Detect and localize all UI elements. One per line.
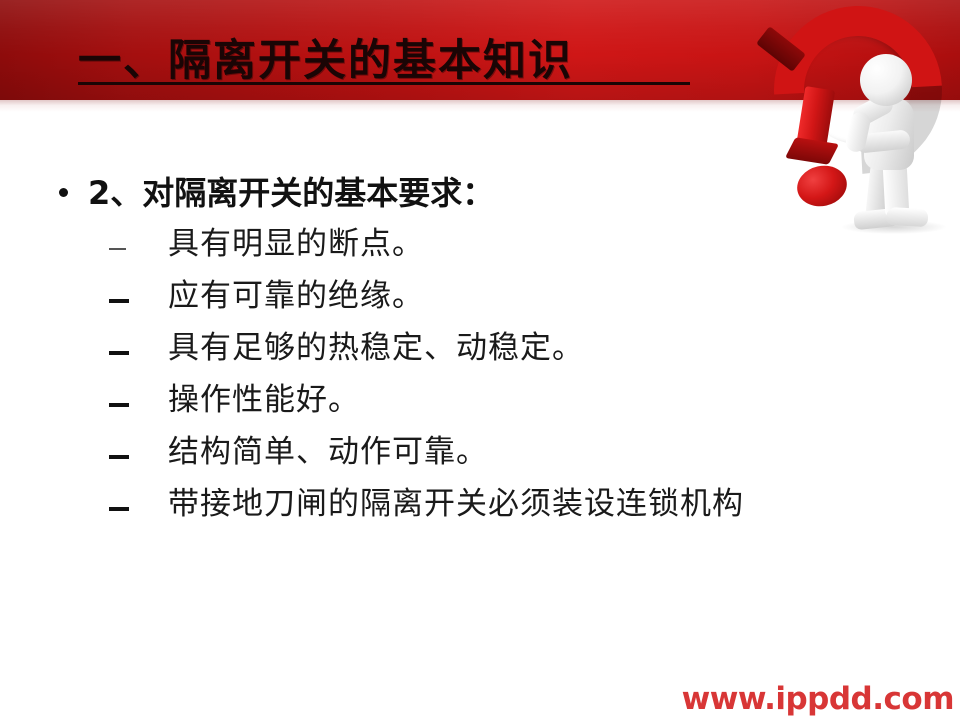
- list-item: 应有可靠的绝缘。: [0, 272, 960, 324]
- dash-marker-icon: [109, 248, 126, 250]
- dash-marker-icon: [109, 351, 129, 355]
- title-underline: [78, 82, 690, 85]
- site-watermark: www.ippdd.com: [682, 681, 954, 717]
- slide-content: 2、对隔离开关的基本要求： 具有明显的断点。 应有可靠的绝缘。 具有足够的热稳定…: [0, 168, 960, 532]
- sub-bullet-list: 具有明显的断点。 应有可靠的绝缘。 具有足够的热稳定、动稳定。 操作性能好。 结…: [0, 220, 960, 532]
- list-item: 操作性能好。: [0, 376, 960, 428]
- main-bullet-row: 2、对隔离开关的基本要求：: [0, 168, 960, 220]
- main-bullet-label: 2、对隔离开关的基本要求：: [88, 168, 494, 214]
- dash-marker-icon: [109, 299, 129, 303]
- dash-marker-icon: [109, 455, 129, 459]
- page-title: 一、隔离开关的基本知识: [78, 26, 573, 88]
- list-item: 结构简单、动作可靠。: [0, 428, 960, 480]
- list-item-label: 具有明显的断点。: [168, 218, 424, 263]
- list-item-label: 结构简单、动作可靠。: [168, 426, 488, 471]
- slide-canvas: 一、隔离开关的基本知识 2、对隔离开关的基本要求： 具有明显的断点。: [0, 0, 960, 720]
- list-item-label: 带接地刀闸的隔离开关必须装设连锁机构: [168, 478, 744, 523]
- figure-head: [860, 54, 912, 106]
- list-item-label: 具有足够的热稳定、动稳定。: [168, 322, 584, 367]
- list-item: 带接地刀闸的隔离开关必须装设连锁机构: [0, 480, 960, 532]
- list-item-label: 应有可靠的绝缘。: [168, 270, 424, 315]
- list-item: 具有足够的热稳定、动稳定。: [0, 324, 960, 376]
- list-item: 具有明显的断点。: [0, 220, 960, 272]
- dash-marker-icon: [109, 403, 129, 407]
- bullet-dot-icon: [59, 188, 68, 197]
- list-item-label: 操作性能好。: [168, 374, 360, 419]
- dash-marker-icon: [109, 507, 129, 511]
